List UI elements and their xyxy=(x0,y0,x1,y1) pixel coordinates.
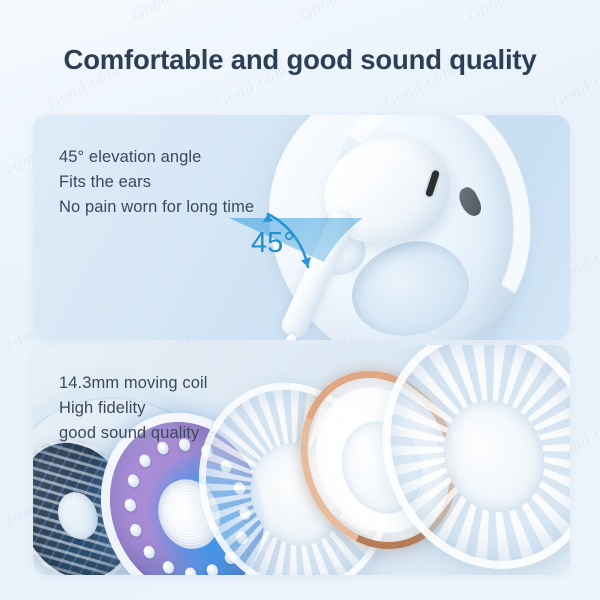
watermark-text: Good.com xyxy=(128,0,207,26)
angle-value-label: 45° xyxy=(251,227,295,260)
voice-coil-rivet xyxy=(128,522,143,538)
feature-panel-elevation-angle: 45° 45° elevation angle Fits the ears No… xyxy=(33,115,570,340)
product-feature-image: Good.comGood.comGood.comGood.comGood.com… xyxy=(0,0,600,600)
feature-panel-moving-coil: 14.3mm moving coil High fidelity good so… xyxy=(33,345,570,575)
watermark-text: Good.com xyxy=(0,0,39,26)
panel-2-line-3: good sound quality xyxy=(59,421,208,446)
voice-coil-rivet xyxy=(142,544,157,560)
voice-coil-rivet xyxy=(137,453,152,469)
voice-coil-rivet xyxy=(123,497,138,513)
panel-1-line-3: No pain worn for long time xyxy=(59,195,254,220)
voice-coil-rivet xyxy=(126,473,141,489)
voice-coil-rivet xyxy=(161,559,176,575)
panel-1-line-1: 45° elevation angle xyxy=(59,145,254,170)
voice-coil-rivet xyxy=(183,566,198,575)
watermark-text: Good.com xyxy=(464,0,543,26)
panel-1-line-2: Fits the ears xyxy=(59,170,254,195)
panel-2-text-block: 14.3mm moving coil High fidelity good so… xyxy=(59,371,208,446)
panel-1-text-block: 45° elevation angle Fits the ears No pai… xyxy=(59,145,254,220)
watermark-text: Good.com xyxy=(296,0,375,26)
page-title: Comfortable and good sound quality xyxy=(0,44,600,76)
panel-2-line-1: 14.3mm moving coil xyxy=(59,371,208,396)
voice-coil-rivet xyxy=(205,562,220,575)
panel-2-line-2: High fidelity xyxy=(59,396,208,421)
